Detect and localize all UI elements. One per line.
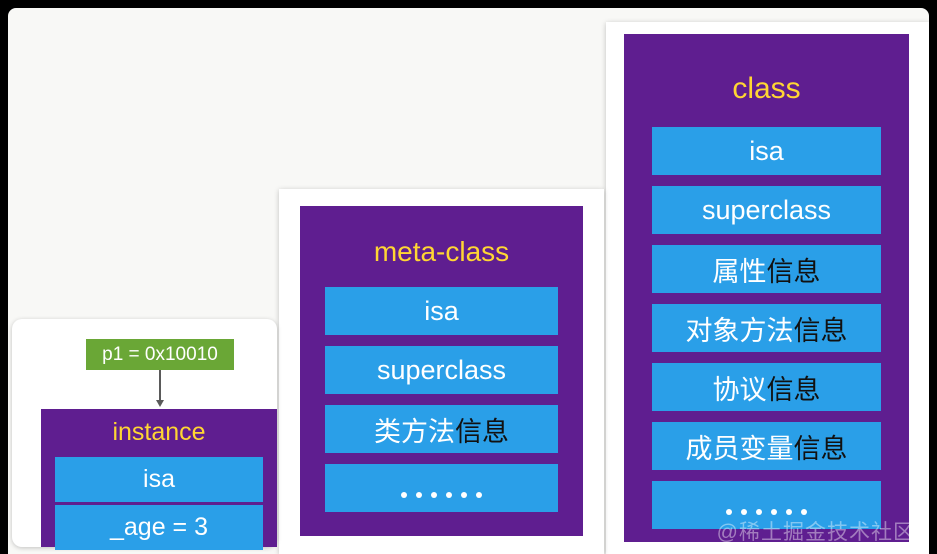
class-object-box: class isa superclass 属性信息 对象方法信息 协议信息 bbox=[624, 34, 909, 542]
metaclass-slot-isa-label: isa bbox=[424, 296, 459, 327]
metaclass-slot-class-methods[interactable]: 类方法信息 bbox=[325, 405, 558, 453]
ellipsis-dot bbox=[756, 509, 762, 515]
class-slot-more[interactable] bbox=[652, 481, 881, 529]
instance-slot-age-label: _age = 3 bbox=[110, 513, 208, 542]
ellipsis-dot bbox=[416, 492, 422, 498]
ellipsis-dot bbox=[476, 492, 482, 498]
class-slot-properties-label-suffix: 信息 bbox=[767, 250, 821, 289]
class-slot-instance-methods-label-prefix: 对象方法 bbox=[686, 309, 794, 348]
class-slot-superclass-label: superclass bbox=[702, 195, 831, 226]
instance-object-box: instance isa _age = 3 bbox=[41, 409, 277, 547]
ellipsis-dot bbox=[431, 492, 437, 498]
metaclass-object-box: meta-class isa superclass 类方法信息 bbox=[300, 206, 583, 536]
instance-title: instance bbox=[55, 409, 263, 457]
metaclass-slot-class-methods-label-suffix: 信息 bbox=[455, 410, 509, 449]
ellipsis-dot bbox=[771, 509, 777, 515]
instance-slot-isa[interactable]: isa bbox=[55, 457, 263, 502]
ellipsis-dot bbox=[446, 492, 452, 498]
metaclass-slot-isa[interactable]: isa bbox=[325, 287, 558, 335]
class-slot-isa-label: isa bbox=[749, 136, 784, 167]
ellipsis-dot bbox=[401, 492, 407, 498]
class-slot-isa[interactable]: isa bbox=[652, 127, 881, 175]
class-slot-properties[interactable]: 属性信息 bbox=[652, 245, 881, 293]
pointer-arrow-icon bbox=[159, 370, 161, 402]
metaclass-card: meta-class isa superclass 类方法信息 bbox=[279, 189, 604, 554]
class-card: class isa superclass 属性信息 对象方法信息 协议信息 bbox=[606, 22, 929, 554]
ellipsis-dot bbox=[741, 509, 747, 515]
instance-card: p1 = 0x10010 instance isa _age = 3 bbox=[12, 319, 277, 547]
ellipsis-icon bbox=[325, 464, 558, 512]
pointer-variable-label: p1 = 0x10010 bbox=[102, 344, 218, 366]
instance-slot-age[interactable]: _age = 3 bbox=[55, 505, 263, 550]
metaclass-slot-superclass-label: superclass bbox=[377, 355, 506, 386]
class-slot-ivars-label-suffix: 信息 bbox=[794, 427, 848, 466]
class-slot-protocols-label-prefix: 协议 bbox=[713, 368, 767, 407]
class-slot-protocols[interactable]: 协议信息 bbox=[652, 363, 881, 411]
pointer-variable-box: p1 = 0x10010 bbox=[86, 339, 234, 370]
class-slot-properties-label-prefix: 属性 bbox=[713, 250, 767, 289]
class-slot-protocols-label-suffix: 信息 bbox=[767, 368, 821, 407]
ellipsis-dot bbox=[786, 509, 792, 515]
instance-slot-isa-label: isa bbox=[143, 465, 175, 494]
metaclass-title: meta-class bbox=[325, 206, 558, 287]
metaclass-slot-class-methods-label-prefix: 类方法 bbox=[374, 410, 455, 449]
class-slot-instance-methods-label-suffix: 信息 bbox=[794, 309, 848, 348]
class-slot-ivars-label-prefix: 成员变量 bbox=[686, 427, 794, 466]
class-slot-ivars[interactable]: 成员变量信息 bbox=[652, 422, 881, 470]
class-slot-instance-methods[interactable]: 对象方法信息 bbox=[652, 304, 881, 352]
metaclass-slot-more[interactable] bbox=[325, 464, 558, 512]
ellipsis-dot bbox=[461, 492, 467, 498]
metaclass-slot-superclass[interactable]: superclass bbox=[325, 346, 558, 394]
screenshot-canvas: class isa superclass 属性信息 对象方法信息 协议信息 bbox=[0, 0, 937, 554]
class-slot-superclass[interactable]: superclass bbox=[652, 186, 881, 234]
class-title: class bbox=[652, 34, 881, 127]
page-sheet: class isa superclass 属性信息 对象方法信息 协议信息 bbox=[8, 8, 929, 554]
ellipsis-dot bbox=[801, 509, 807, 515]
ellipsis-icon bbox=[652, 481, 881, 529]
ellipsis-dot bbox=[726, 509, 732, 515]
